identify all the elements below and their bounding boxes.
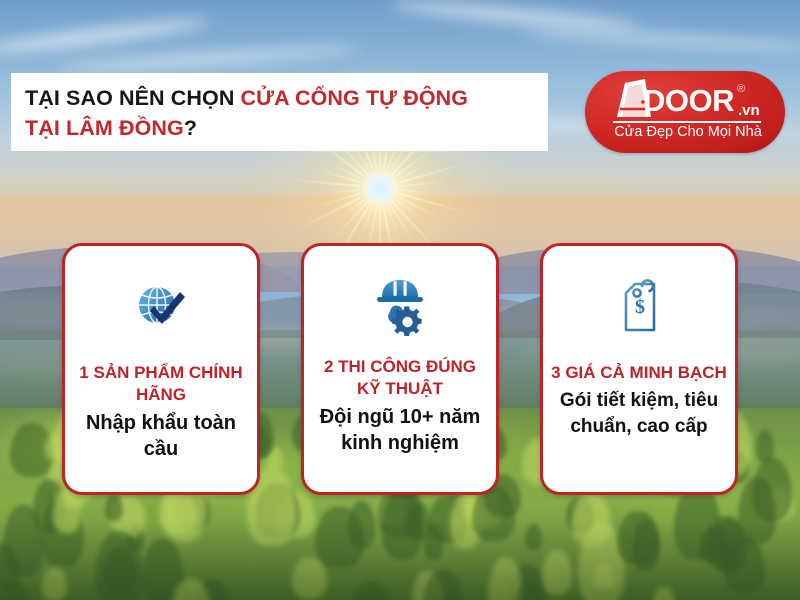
headline-line-2: TẠI LÂM ĐỒNG? — [25, 113, 548, 143]
logo-inner: DOOR ® .vn Cửa Đẹp Cho Mọi Nhà — [585, 71, 785, 153]
headline-line-1: TẠI SAO NÊN CHỌN CỬA CỔNG TỰ ĐỘNG — [25, 83, 548, 113]
feature-card-3[interactable]: $ 3 GIÁ CẢ MINH BẠCH Gói tiết kiệm, tiêu… — [540, 243, 738, 495]
cloud-wisp — [0, 14, 210, 58]
feature-card-subtitle: Gói tiết kiệm, tiêu chuẩn, cao cấp — [543, 388, 735, 440]
feature-card-1[interactable]: 1 SẢN PHẨM CHÍNH HÃNG Nhập khẩu toàn cầu — [62, 243, 260, 495]
forest-shadow — [0, 520, 800, 600]
svg-text:$: $ — [635, 296, 645, 318]
logo-tagline: Cửa Đẹp Cho Mọi Nhà — [610, 124, 766, 140]
logo-brand-text: DOOR — [643, 85, 734, 116]
feature-card-title: 3 GIÁ CẢ MINH BẠCH — [543, 362, 735, 384]
feature-card-subtitle: Đội ngũ 10+ năm kinh nghiệm — [304, 404, 496, 456]
cloud-wisp — [520, 26, 800, 54]
price-tag-dollar-icon: $ — [610, 276, 668, 338]
feature-card-2[interactable]: 2 THI CÔNG ĐÚNG KỸ THUẬT Đội ngũ 10+ năm… — [301, 243, 499, 495]
headline-question-mark: ? — [184, 116, 197, 140]
logo-registered-mark: ® — [737, 83, 745, 95]
pine-tree — [105, 495, 123, 521]
hardhat-wrench-gear-icon — [371, 276, 429, 338]
globe-check-icon — [132, 276, 190, 338]
headline-text-red: CỬA CỔNG TỰ ĐỘNG — [241, 86, 469, 110]
sun-core — [362, 170, 398, 206]
feature-card-title: 2 THI CÔNG ĐÚNG KỸ THUẬT — [304, 356, 496, 400]
headline-text-red-2: TẠI LÂM ĐỒNG — [25, 116, 184, 140]
adoor-logo[interactable]: DOOR ® .vn Cửa Đẹp Cho Mọi Nhà — [585, 71, 785, 153]
pine-tree — [752, 458, 793, 522]
infographic-canvas: TẠI SAO NÊN CHỌN CỬA CỔNG TỰ ĐỘNG TẠI LÂ… — [0, 0, 800, 600]
headline-banner: TẠI SAO NÊN CHỌN CỬA CỔNG TỰ ĐỘNG TẠI LÂ… — [11, 73, 548, 151]
logo-divider — [613, 121, 761, 123]
cloud-wisp — [390, 0, 640, 34]
feature-card-title: 1 SẢN PHẨM CHÍNH HÃNG — [65, 362, 257, 406]
logo-tld-text: .vn — [738, 102, 760, 119]
headline-text-black: TẠI SAO NÊN CHỌN — [25, 86, 241, 110]
feature-card-subtitle: Nhập khẩu toàn cầu — [65, 410, 257, 462]
